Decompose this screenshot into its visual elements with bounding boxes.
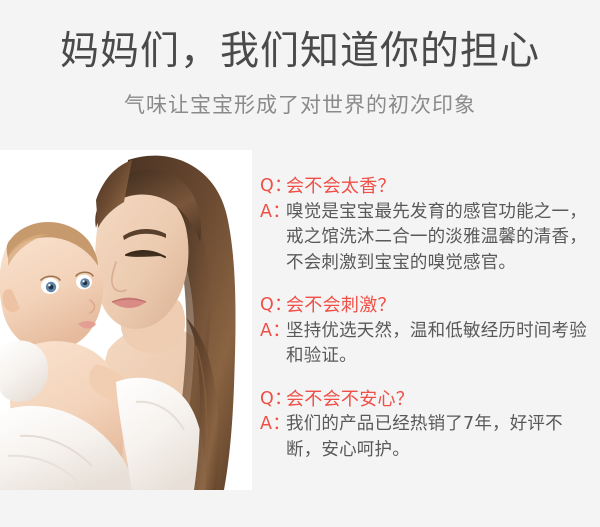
question-label: Q： (260, 387, 286, 413)
faq-answer-row: A： 坚持优选天然，温和低敏经历时间考验和验证。 (260, 319, 590, 370)
page-title: 妈妈们，我们知道你的担心 (0, 0, 600, 75)
faq-item: Q： 会不会太香？ A： 嗅觉是宝宝最先发育的感官功能之一，戒之馆洗沐二合一的淡… (260, 174, 590, 276)
answer-text: 坚持优选天然，温和低敏经历时间考验和验证。 (286, 319, 590, 370)
faq-list: Q： 会不会太香？ A： 嗅觉是宝宝最先发育的感官功能之一，戒之馆洗沐二合一的淡… (260, 174, 590, 480)
question-label: Q： (260, 174, 286, 200)
answer-label: A： (260, 412, 286, 438)
question-text: 会不会刺激？ (286, 293, 396, 319)
answer-label: A： (260, 319, 286, 345)
page-subtitle: 气味让宝宝形成了对世界的初次印象 (0, 75, 600, 118)
answer-text: 我们的产品已经热销了7年，好评不断，安心呵护。 (286, 412, 590, 463)
faq-question-row: Q： 会不会刺激？ (260, 293, 590, 319)
header: 妈妈们，我们知道你的担心 气味让宝宝形成了对世界的初次印象 (0, 0, 600, 118)
question-text: 会不会太香？ (286, 174, 396, 200)
faq-item: Q： 会不会刺激？ A： 坚持优选天然，温和低敏经历时间考验和验证。 (260, 293, 590, 370)
promo-page: 妈妈们，我们知道你的担心 气味让宝宝形成了对世界的初次印象 (0, 0, 600, 527)
faq-answer-row: A： 嗅觉是宝宝最先发育的感官功能之一，戒之馆洗沐二合一的淡雅温馨的清香，不会刺… (260, 200, 590, 277)
faq-item: Q： 会不会不安心？ A： 我们的产品已经热销了7年，好评不断，安心呵护。 (260, 387, 590, 464)
answer-text: 嗅觉是宝宝最先发育的感官功能之一，戒之馆洗沐二合一的淡雅温馨的清香，不会刺激到宝… (286, 200, 590, 277)
faq-answer-row: A： 我们的产品已经热销了7年，好评不断，安心呵护。 (260, 412, 590, 463)
faq-question-row: Q： 会不会不安心？ (260, 387, 590, 413)
answer-label: A： (260, 200, 286, 226)
question-text: 会不会不安心？ (286, 387, 414, 413)
question-label: Q： (260, 293, 286, 319)
faq-question-row: Q： 会不会太香？ (260, 174, 590, 200)
mother-and-baby-photo (0, 150, 252, 490)
